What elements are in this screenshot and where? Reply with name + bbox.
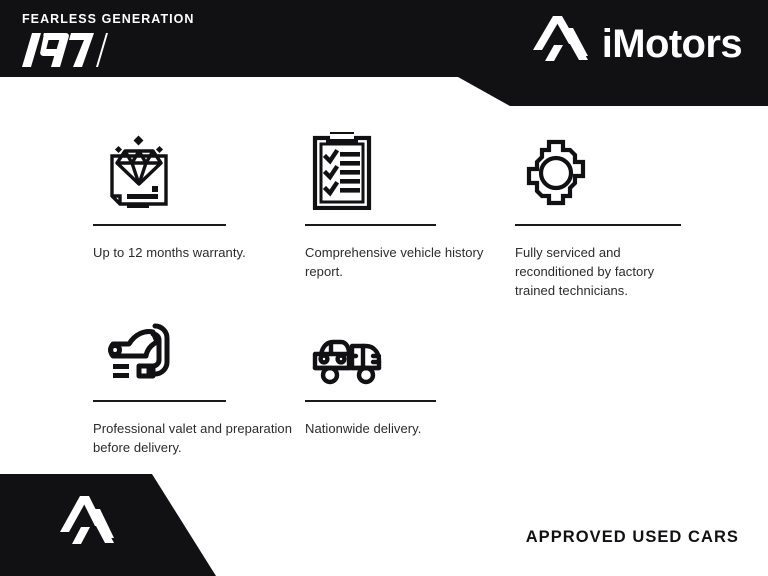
header-left-lockup: FEARLESS GENERATION bbox=[22, 13, 262, 67]
clipboard-checklist-icon bbox=[305, 128, 505, 210]
feature-label: Professional valet and preparation befor… bbox=[93, 419, 293, 457]
divider bbox=[93, 224, 226, 226]
divider bbox=[515, 224, 681, 226]
warranty-certificate-gem-icon bbox=[93, 128, 293, 210]
tagline: FEARLESS GENERATION bbox=[22, 13, 262, 26]
feature-grid: Up to 12 months warranty. bbox=[0, 106, 768, 476]
footer-banner bbox=[0, 474, 768, 576]
feature-label: Fully serviced and reconditioned by fact… bbox=[515, 243, 690, 300]
divider bbox=[305, 400, 436, 402]
feature-label: Comprehensive vehicle history report. bbox=[305, 243, 505, 281]
header-brand-lockup: iMotors bbox=[530, 16, 742, 72]
footer-imotors-chevron-logomark-icon bbox=[58, 496, 114, 556]
footer-caption: APPROVED USED CARS bbox=[526, 528, 739, 547]
feature-item-serviced: Fully serviced and reconditioned by fact… bbox=[515, 128, 715, 300]
feature-item-warranty: Up to 12 months warranty. bbox=[93, 128, 293, 262]
divider bbox=[93, 400, 226, 402]
gear-cog-icon bbox=[515, 128, 715, 210]
feature-item-delivery: Nationwide delivery. bbox=[305, 304, 505, 438]
feature-label: Nationwide delivery. bbox=[305, 419, 505, 438]
divider bbox=[305, 224, 436, 226]
feature-item-valet: Professional valet and preparation befor… bbox=[93, 304, 293, 457]
brand-name: iMotors bbox=[602, 24, 742, 64]
car-transporter-truck-icon bbox=[305, 304, 505, 386]
vacuum-cleaner-icon bbox=[93, 304, 293, 386]
feature-label: Up to 12 months warranty. bbox=[93, 243, 293, 262]
1971-slash-logomark-icon bbox=[22, 33, 108, 67]
imotors-chevron-logomark-icon bbox=[530, 16, 588, 72]
feature-item-history-report: Comprehensive vehicle history report. bbox=[305, 128, 505, 281]
